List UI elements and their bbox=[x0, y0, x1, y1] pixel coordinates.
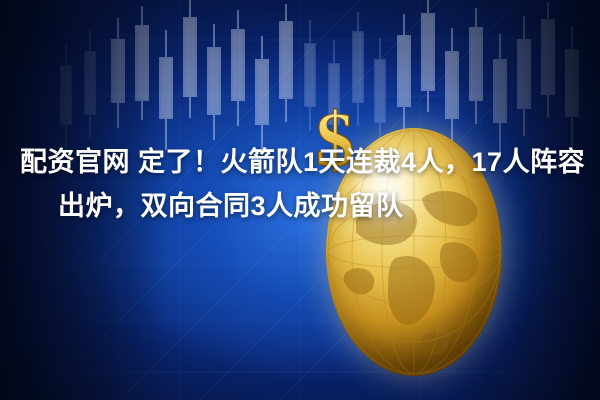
headline-line-1: 配资官网 定了！火箭队1天连裁4人，17人阵容 bbox=[20, 140, 580, 184]
headline-line-2: 出炉，双向合同3人成功留队 bbox=[20, 184, 580, 228]
headline-text: 配资官网 定了！火箭队1天连裁4人，17人阵容 出炉，双向合同3人成功留队 bbox=[20, 140, 580, 228]
image-canvas: $ 配资官网 定了！火箭队1天连裁4人，17人阵容 出炉，双向合同3人成功留队 bbox=[0, 0, 600, 400]
